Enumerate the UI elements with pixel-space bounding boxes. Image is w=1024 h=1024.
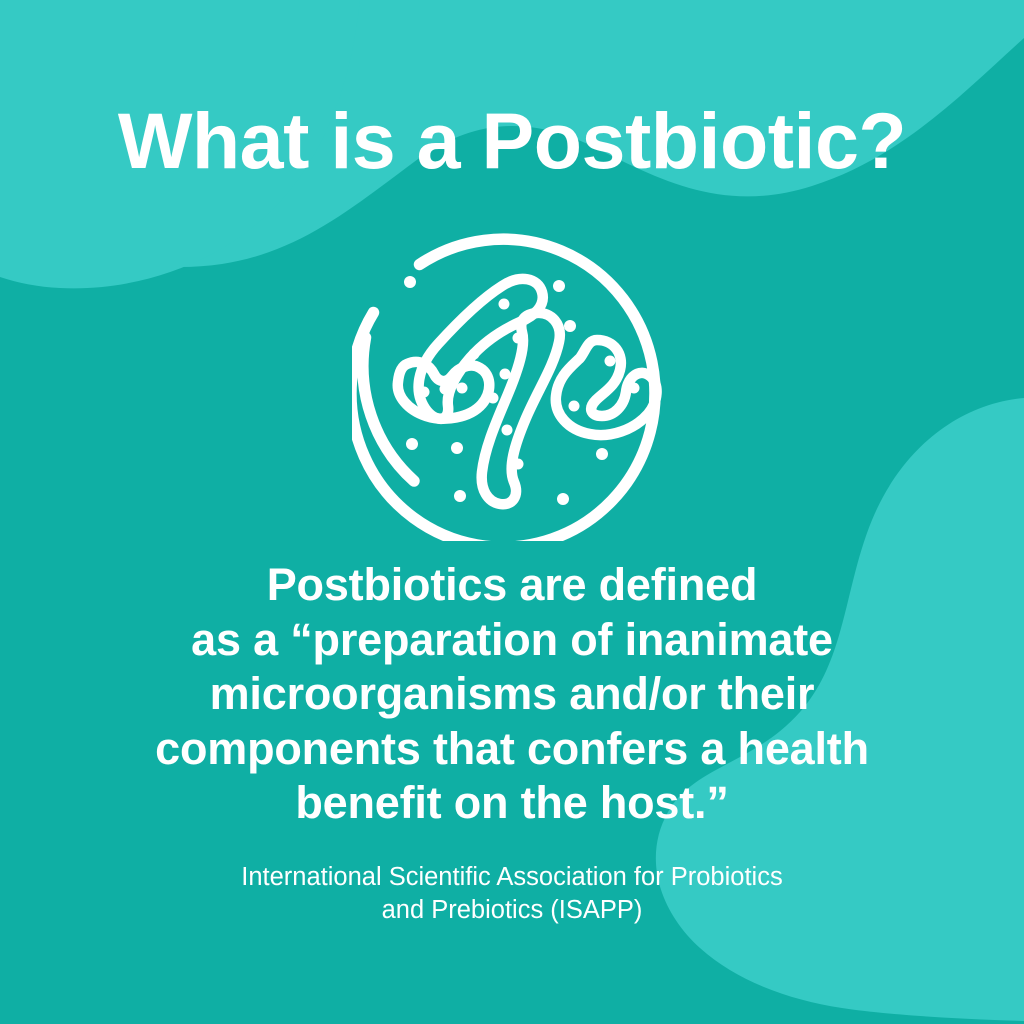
poster-canvas: What is a Postbiotic? bbox=[0, 0, 1024, 1024]
quote-text: Postbiotics are defined as a “preparatio… bbox=[62, 558, 962, 831]
dish-dot bbox=[404, 276, 416, 288]
bacterium-dot bbox=[499, 299, 510, 310]
petri-dish-bacteria-icon bbox=[352, 216, 672, 541]
bacterium-dot bbox=[419, 387, 430, 398]
bacterium-dot bbox=[513, 459, 524, 470]
dish-dot bbox=[406, 438, 418, 450]
page-title: What is a Postbiotic? bbox=[0, 100, 1024, 183]
bacterium-dot bbox=[502, 425, 513, 436]
quote-line-4: components that confers a health bbox=[62, 722, 962, 777]
attribution-text: International Scientific Association for… bbox=[62, 861, 962, 927]
dish-dot bbox=[451, 442, 463, 454]
dish-dot bbox=[596, 448, 608, 460]
dish-dot bbox=[553, 280, 565, 292]
bacterium-dot bbox=[513, 333, 524, 344]
dish-dot bbox=[557, 493, 569, 505]
attribution-line-2: and Prebiotics (ISAPP) bbox=[62, 894, 962, 927]
bacterium-dot bbox=[469, 349, 480, 360]
dish-dot bbox=[454, 490, 466, 502]
bacterium-dot bbox=[500, 369, 511, 380]
bacterium-dot bbox=[569, 401, 580, 412]
quote-line-5: benefit on the host.” bbox=[62, 776, 962, 831]
bacterium-dot bbox=[629, 383, 640, 394]
bacterium-dot bbox=[457, 383, 468, 394]
bacterium-dot bbox=[605, 356, 616, 367]
dish-dot bbox=[564, 320, 576, 332]
bacterium-right bbox=[556, 340, 657, 435]
quote-line-1: Postbiotics are defined bbox=[62, 558, 962, 613]
quote-line-3: microorganisms and/or their bbox=[62, 667, 962, 722]
attribution-line-1: International Scientific Association for… bbox=[62, 861, 962, 894]
quote-line-2: as a “preparation of inanimate bbox=[62, 613, 962, 668]
